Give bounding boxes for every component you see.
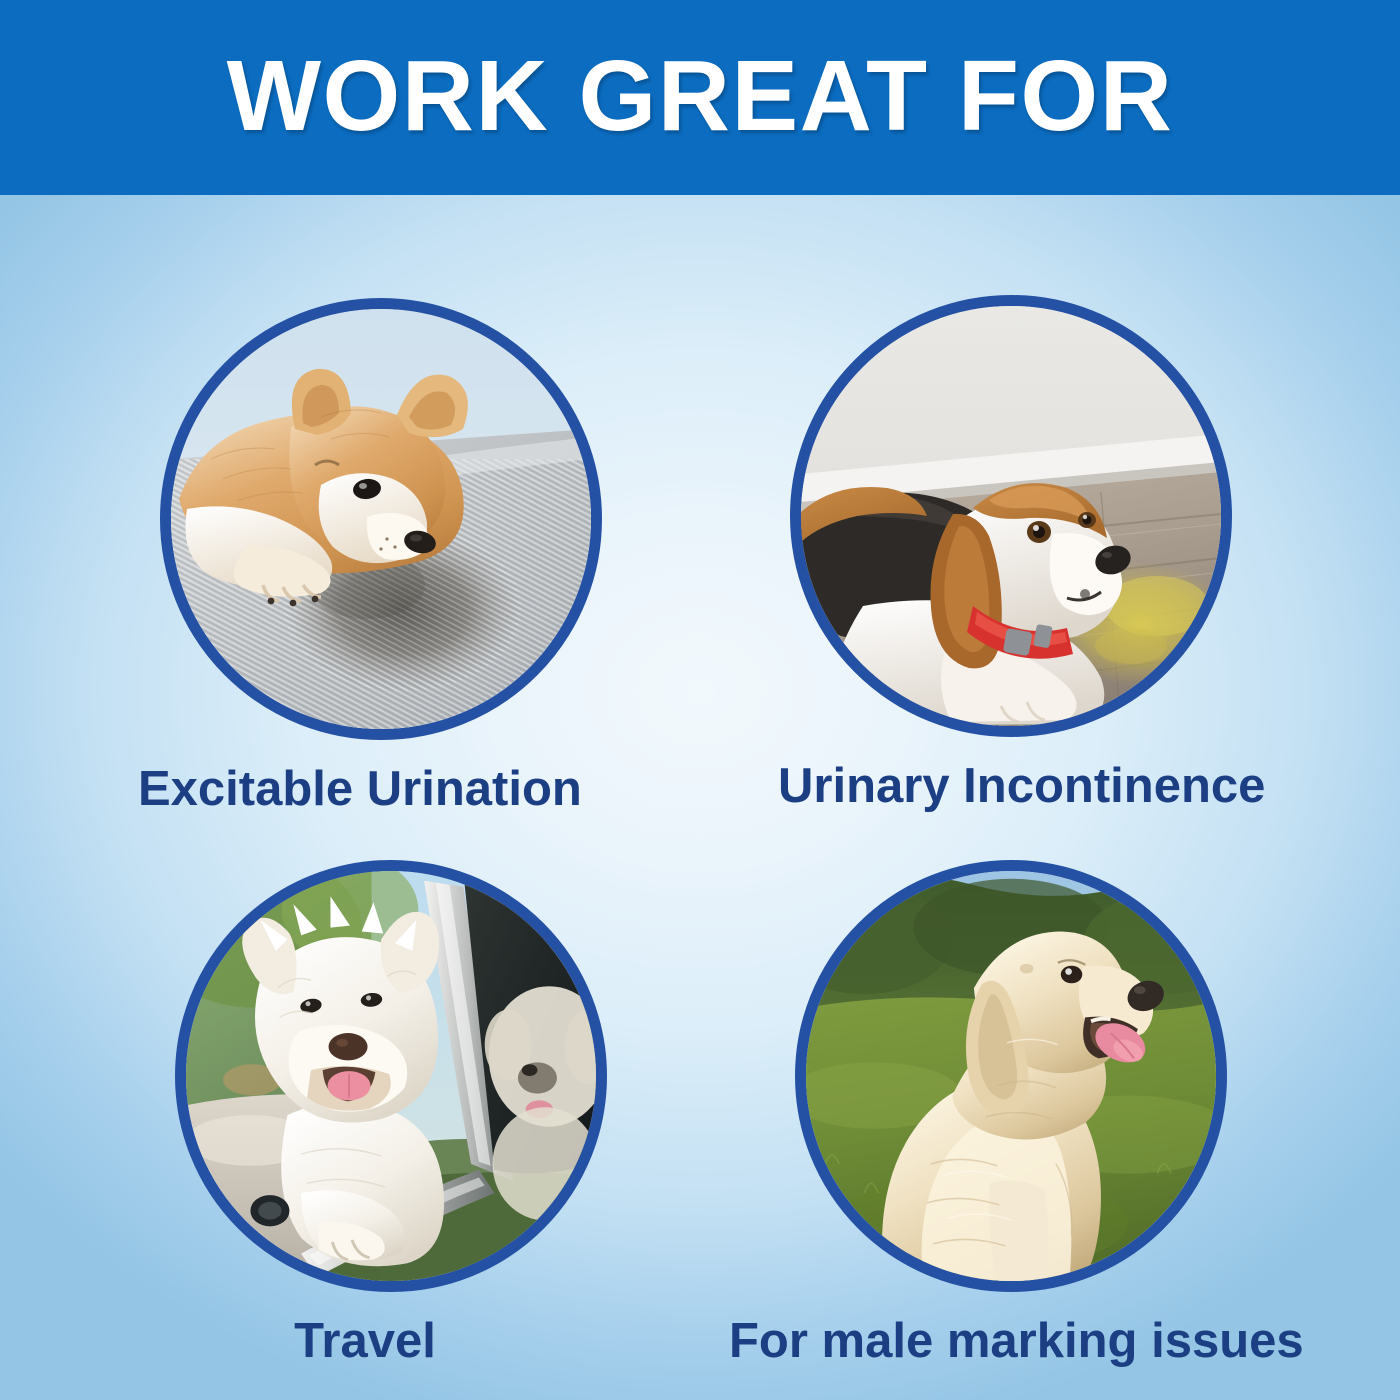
benefit-card-excitable-urination: Excitable Urination	[160, 298, 602, 815]
caption-male-marking: For male marking issues	[729, 1316, 1293, 1367]
promo-graphic: WORK GREAT FOR	[0, 0, 1400, 1400]
golden-retriever-in-field-photo	[806, 871, 1216, 1281]
photo-frame-travel	[175, 860, 607, 1292]
photo-frame-urinary-incontinence	[790, 295, 1232, 737]
shiba-puppy-on-carpet-photo	[171, 309, 591, 729]
photo-frame-excitable-urination	[160, 298, 602, 740]
white-dog-car-window-photo	[186, 871, 596, 1281]
caption-urinary-incontinence: Urinary Incontinence	[778, 761, 1220, 812]
benefit-card-travel: Travel	[175, 860, 607, 1367]
header-band: WORK GREAT FOR	[0, 0, 1400, 195]
caption-travel: Travel	[149, 1316, 581, 1367]
caption-excitable-urination: Excitable Urination	[138, 764, 580, 815]
beagle-on-wood-floor-photo	[801, 306, 1221, 726]
photo-frame-male-marking	[795, 860, 1227, 1292]
page-title: WORK GREAT FOR	[227, 46, 1174, 146]
benefit-card-urinary-incontinence: Urinary Incontinence	[790, 295, 1232, 812]
benefits-grid: Excitable Urination	[0, 195, 1400, 1400]
benefit-card-male-marking: For male marking issues	[795, 860, 1293, 1367]
